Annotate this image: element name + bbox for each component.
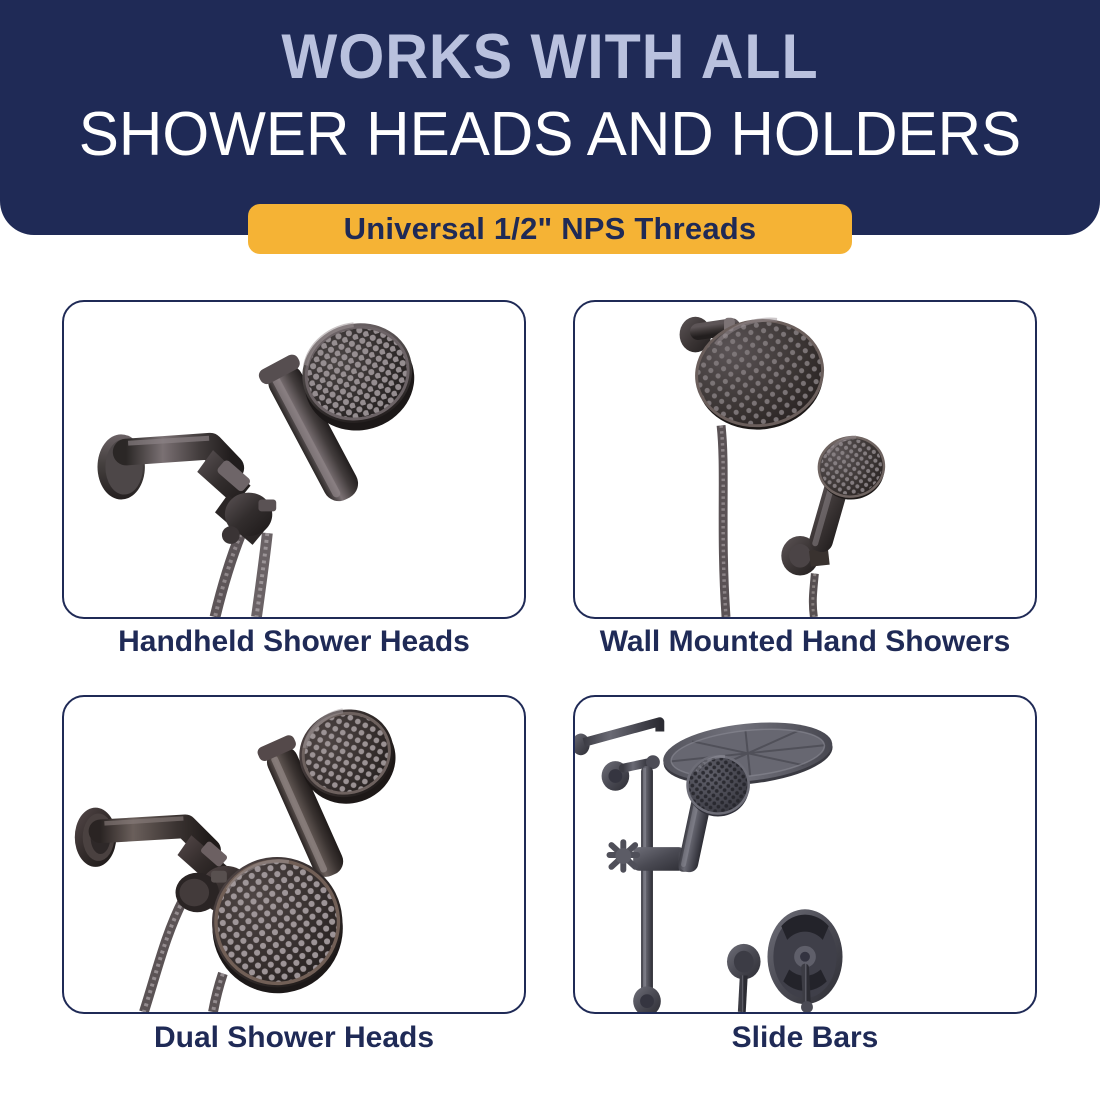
valve-lever-handle [805,968,807,1006]
shower-hose [215,533,267,617]
thread-spec-badge-label: Universal 1/2" NPS Threads [344,211,757,247]
page-headline-secondary: SHOWER HEADS AND HOLDERS [17,104,1084,166]
shower-valve-trim [767,909,842,1012]
product-card-slide-bars [573,695,1037,1014]
header-panel: WORKS WITH ALL SHOWER HEADS AND HOLDERS [0,0,1100,235]
dual-shower-head-illustration [64,697,524,1012]
water-outlet [727,944,761,1012]
product-card-dual-shower-heads [62,695,526,1014]
slide-bar-illustration [575,697,1035,1012]
wall-mounted-hand-shower-illustration [575,302,1035,617]
slide-bar-rail [641,766,653,1012]
product-card-label-wall-mounted-hand-showers: Wall Mounted Hand Showers [545,625,1065,659]
slide-bar [602,755,661,1012]
product-card-label-handheld-shower-heads: Handheld Shower Heads [34,625,554,659]
shower-hose [144,899,223,1012]
product-card-label-slide-bars: Slide Bars [545,1021,1065,1055]
product-card-handheld-shower-heads [62,300,526,619]
product-card-label-dual-shower-heads: Dual Shower Heads [34,1021,554,1055]
product-feature-infographic: WORKS WITH ALL SHOWER HEADS AND HOLDERS … [0,0,1100,1100]
thread-spec-badge: Universal 1/2" NPS Threads [248,204,852,254]
product-card-wall-mounted-hand-showers [573,300,1037,619]
handheld-shower-head-illustration [64,302,524,617]
page-headline-primary: WORKS WITH ALL [33,26,1067,89]
